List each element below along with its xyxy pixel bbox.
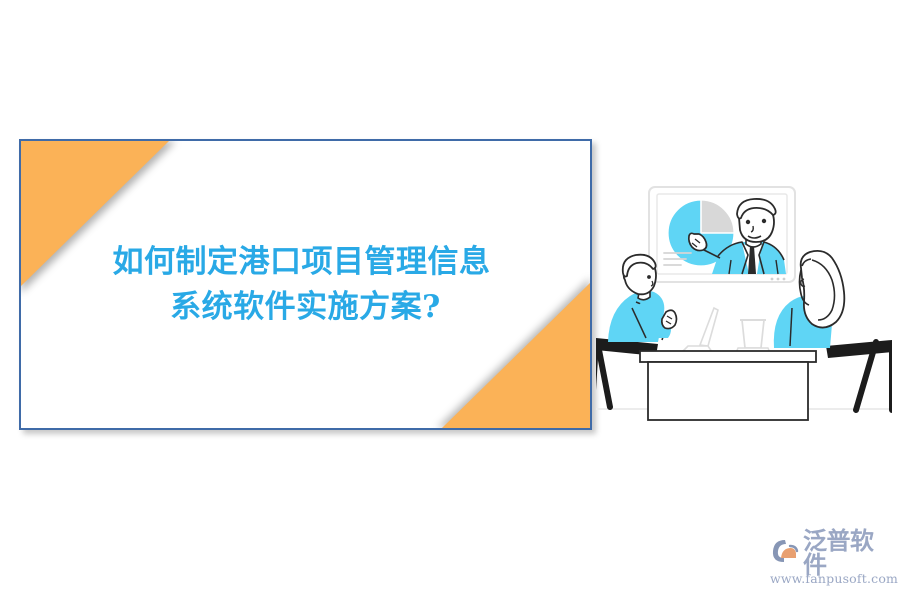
fanpusoft-logo-mark-icon: [770, 537, 800, 570]
video-conference-illustration: [596, 160, 892, 440]
top-left-corner-triangle: [21, 141, 169, 286]
title-card: 如何制定港口项目管理信息 系统软件实施方案?: [19, 139, 592, 430]
bottom-right-corner-triangle: [442, 283, 590, 428]
fanpusoft-logo: 泛普软件 www.fanpusoft.com: [770, 536, 892, 588]
title-line-2: 系统软件实施方案?: [170, 285, 441, 330]
desk-items: [682, 308, 770, 353]
logo-url: www.fanpusoft.com: [770, 571, 892, 586]
chair-right: [826, 340, 892, 410]
laptop-icon: [682, 308, 718, 352]
presentation-monitor: [649, 187, 795, 282]
cup-icon: [736, 320, 770, 353]
screen-status-dots: [771, 278, 786, 281]
logo-wordmark: 泛普软件: [803, 529, 892, 577]
desk: [640, 351, 816, 420]
